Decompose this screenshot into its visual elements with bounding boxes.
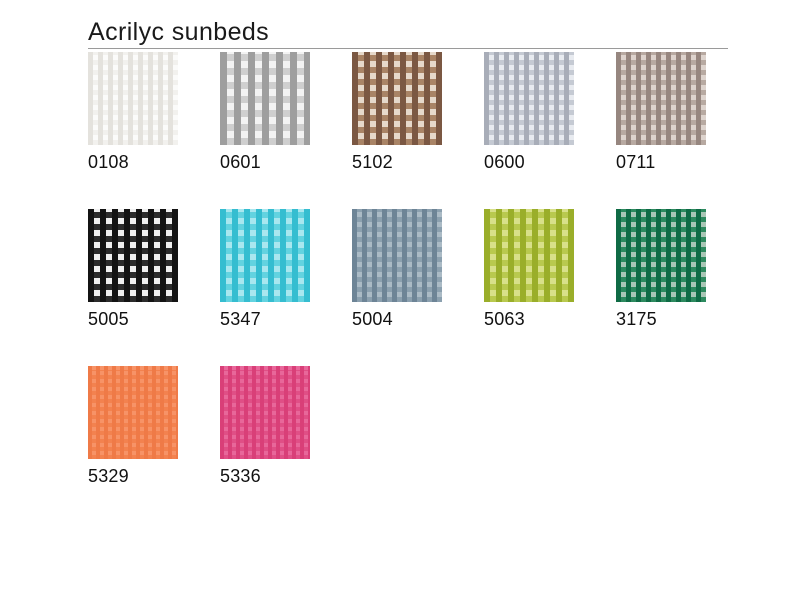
weave-texture xyxy=(616,209,706,302)
swatch-label: 5102 xyxy=(352,152,442,172)
weave-texture xyxy=(352,209,442,302)
swatch-row: 53295336 xyxy=(88,366,768,486)
swatch-label: 5063 xyxy=(484,309,574,329)
fabric-swatch-5063[interactable] xyxy=(484,209,574,302)
swatch-cell-5063[interactable]: 5063 xyxy=(484,209,574,329)
swatch-row: 01080601510206000711 xyxy=(88,52,768,172)
swatch-cell-5329[interactable]: 5329 xyxy=(88,366,178,486)
weave-texture xyxy=(88,52,178,145)
swatch-cell-0108[interactable]: 0108 xyxy=(88,52,178,172)
swatch-cell-5347[interactable]: 5347 xyxy=(220,209,310,329)
swatch-label: 0711 xyxy=(616,152,706,172)
swatch-label: 0600 xyxy=(484,152,574,172)
weave-texture xyxy=(88,209,178,302)
swatch-cell-5005[interactable]: 5005 xyxy=(88,209,178,329)
fabric-swatch-0601[interactable] xyxy=(220,52,310,145)
weave-texture xyxy=(220,52,310,145)
swatch-cell-0600[interactable]: 0600 xyxy=(484,52,574,172)
swatch-cell-3175[interactable]: 3175 xyxy=(616,209,706,329)
swatch-label: 5005 xyxy=(88,309,178,329)
weave-texture xyxy=(484,52,574,145)
fabric-swatch-0108[interactable] xyxy=(88,52,178,145)
fabric-swatch-5004[interactable] xyxy=(352,209,442,302)
weave-texture xyxy=(484,209,574,302)
fabric-swatch-0600[interactable] xyxy=(484,52,574,145)
swatch-label: 0108 xyxy=(88,152,178,172)
weave-texture xyxy=(220,209,310,302)
swatch-label: 0601 xyxy=(220,152,310,172)
swatch-row: 50055347500450633175 xyxy=(88,209,768,329)
weave-texture xyxy=(352,52,442,145)
swatch-cell-5102[interactable]: 5102 xyxy=(352,52,442,172)
fabric-swatch-5329[interactable] xyxy=(88,366,178,459)
swatch-cell-5336[interactable]: 5336 xyxy=(220,366,310,486)
page-title: Acrilyc sunbeds xyxy=(88,18,728,46)
fabric-swatch-5336[interactable] xyxy=(220,366,310,459)
fabric-swatch-3175[interactable] xyxy=(616,209,706,302)
title-divider xyxy=(88,48,728,49)
swatch-label: 5347 xyxy=(220,309,310,329)
swatch-cell-0711[interactable]: 0711 xyxy=(616,52,706,172)
catalog-page: Acrilyc sunbeds 010806015102060007115005… xyxy=(0,0,800,600)
weave-texture xyxy=(88,366,178,459)
swatch-label: 5004 xyxy=(352,309,442,329)
swatch-label: 5336 xyxy=(220,466,310,486)
weave-texture xyxy=(616,52,706,145)
fabric-swatch-5347[interactable] xyxy=(220,209,310,302)
page-header: Acrilyc sunbeds xyxy=(88,18,728,49)
swatch-grid: 0108060151020600071150055347500450633175… xyxy=(88,52,768,523)
fabric-swatch-5102[interactable] xyxy=(352,52,442,145)
swatch-cell-0601[interactable]: 0601 xyxy=(220,52,310,172)
swatch-label: 3175 xyxy=(616,309,706,329)
swatch-cell-5004[interactable]: 5004 xyxy=(352,209,442,329)
swatch-label: 5329 xyxy=(88,466,178,486)
fabric-swatch-5005[interactable] xyxy=(88,209,178,302)
fabric-swatch-0711[interactable] xyxy=(616,52,706,145)
weave-texture xyxy=(220,366,310,459)
